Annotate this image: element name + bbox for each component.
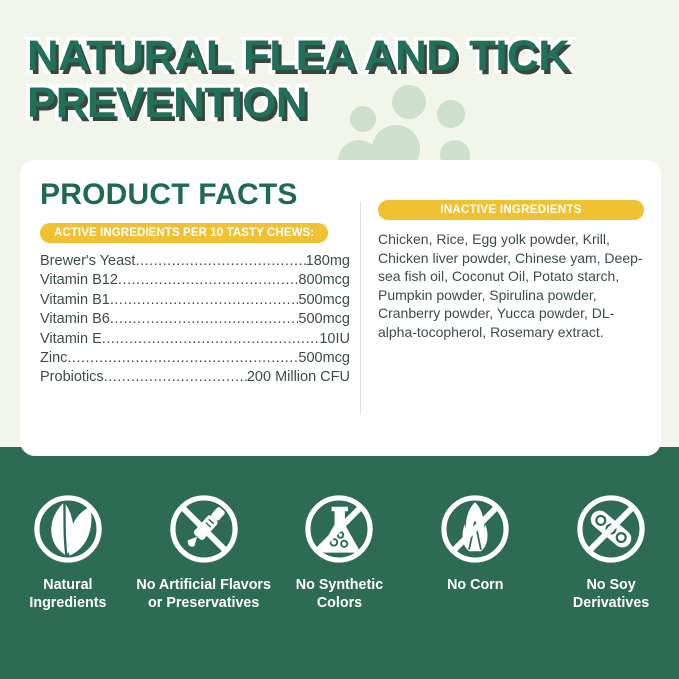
inactive-ingredients-pill: INACTIVE INGREDIENTS (378, 200, 644, 220)
ingredient-value: 500mcg (298, 349, 350, 368)
feature-label: No Artificial Flavors or Preservatives (136, 577, 272, 612)
ingredient-name: Probiotics (40, 368, 104, 387)
feature-label: No Soy Derivatives (543, 577, 679, 612)
no-flask-icon (302, 492, 376, 566)
feature-label: No Synthetic Colors (272, 577, 408, 612)
ingredient-value: 500mcg (298, 310, 350, 329)
ingredient-name: Zinc (40, 349, 67, 368)
feature-label: No Corn (407, 577, 543, 595)
ingredient-row: Vitamin B1..............................… (40, 291, 350, 310)
product-facts-card: PRODUCT FACTS ACTIVE INGREDIENTS PER 10 … (20, 160, 661, 456)
ingredient-name: Brewer's Yeast (40, 252, 135, 271)
feature-no-soy: No Soy Derivatives (543, 492, 679, 612)
leaves-circle-icon (31, 492, 105, 566)
ingredient-leader-dots: ........................................… (118, 271, 298, 290)
ingredient-row: Vitamin B6..............................… (40, 310, 350, 329)
ingredient-value: 500mcg (298, 291, 350, 310)
ingredient-leader-dots: ........................................… (135, 252, 305, 271)
feature-label: Natural Ingredients (0, 577, 136, 612)
feature-list: Natural Ingredients No Artificial Flavor… (0, 492, 679, 612)
page-title: NATURAL FLEA AND TICK PREVENTION (27, 33, 670, 127)
feature-no-synthetic-colors: No Synthetic Colors (272, 492, 408, 612)
ingredient-value: 10IU (319, 330, 350, 349)
ingredient-name: Vitamin B6 (40, 310, 110, 329)
ingredient-value: 180mg (306, 252, 350, 271)
ingredient-leader-dots: ........................................… (104, 368, 247, 387)
no-corn-icon (438, 492, 512, 566)
no-dropper-icon (167, 492, 241, 566)
feature-natural-ingredients: Natural Ingredients (0, 492, 136, 612)
ingredient-leader-dots: ........................................… (110, 291, 299, 310)
ingredient-row: Brewer's Yeast..........................… (40, 252, 350, 271)
product-facts-heading: PRODUCT FACTS (40, 178, 350, 212)
ingredient-row: Probiotics..............................… (40, 368, 350, 387)
ingredient-leader-dots: ........................................… (67, 349, 298, 368)
ingredient-row: Zinc....................................… (40, 349, 350, 368)
inactive-ingredients-column: INACTIVE INGREDIENTS Chicken, Rice, Egg … (378, 200, 644, 342)
ingredient-row: Vitamin B12.............................… (40, 271, 350, 290)
ingredient-name: Vitamin B12 (40, 271, 118, 290)
ingredient-leader-dots: ........................................… (110, 310, 299, 329)
active-ingredients-list: Brewer's Yeast..........................… (40, 252, 350, 388)
column-divider (360, 202, 361, 414)
ingredient-row: Vitamin E...............................… (40, 330, 350, 349)
active-ingredients-column: PRODUCT FACTS ACTIVE INGREDIENTS PER 10 … (40, 178, 350, 388)
ingredient-name: Vitamin B1 (40, 291, 110, 310)
ingredient-value: 800mcg (298, 271, 350, 290)
active-ingredients-pill: ACTIVE INGREDIENTS PER 10 TASTY CHEWS: (40, 223, 328, 243)
no-soy-icon (574, 492, 648, 566)
ingredient-name: Vitamin E (40, 330, 102, 349)
ingredient-leader-dots: ........................................… (102, 330, 320, 349)
feature-no-corn: No Corn (407, 492, 543, 595)
ingredient-value: 200 Million CFU (247, 368, 350, 387)
feature-no-artificial-flavors: No Artificial Flavors or Preservatives (136, 492, 272, 612)
inactive-ingredients-text: Chicken, Rice, Egg yolk powder, Krill, C… (378, 230, 644, 342)
